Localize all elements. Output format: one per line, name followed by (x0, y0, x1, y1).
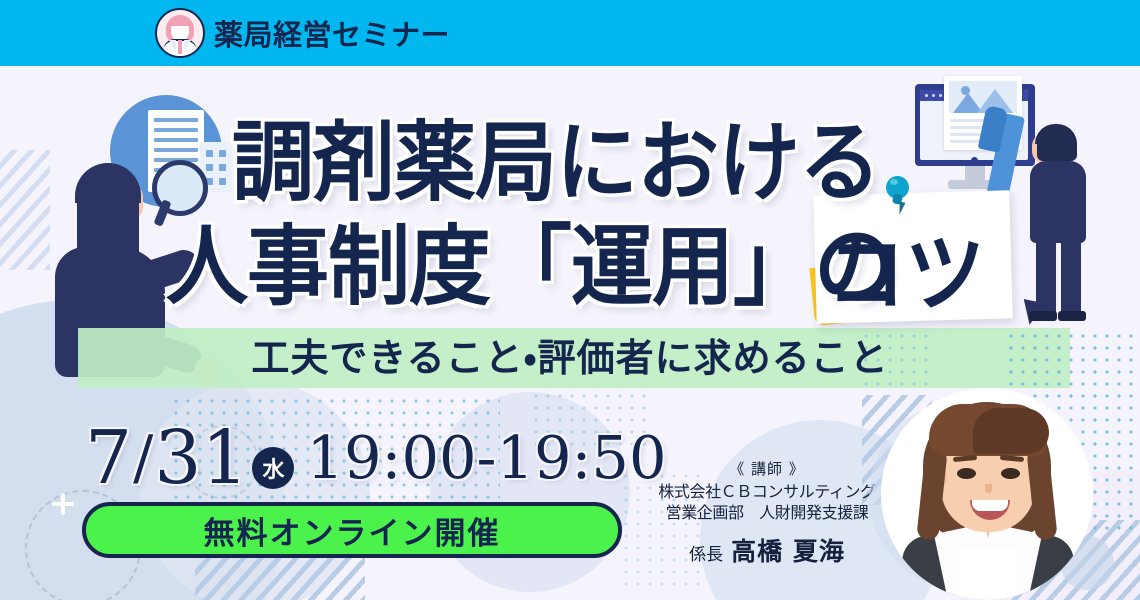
event-date-row: 7 / 31 水 19:00-19:50 (85, 422, 666, 494)
hero-title-line2: 人事制度「運用」の (166, 196, 895, 322)
brand-group: 薬局経営セミナー (155, 0, 450, 66)
speaker-info: 《 講師 》 株式会社ＣＢコンサルティング 営業企画部 人財開発支援課 係長高橋… (636, 458, 898, 568)
speaker-name-row: 係長高橋 夏海 (636, 532, 898, 568)
brand-title: 薬局経営セミナー (214, 12, 450, 54)
free-online-cta-button[interactable]: 無料オンライン開催 (82, 502, 622, 558)
event-time: 19:00-19:50 (306, 422, 666, 494)
cta-label: 無料オンライン開催 (204, 508, 501, 553)
hero-subtitle: 工夫できること・評価者に求めること (0, 330, 1140, 386)
portrait-circle (881, 388, 1093, 600)
event-weekday-badge: 水 (252, 447, 294, 489)
sparkle-plus-icon (52, 493, 74, 515)
speaker-label: 《 講師 》 (636, 458, 898, 479)
speaker-title: 係長 (689, 545, 723, 565)
speaker-department: 営業企画部 人財開発支援課 (636, 502, 898, 523)
speaker-portrait (881, 388, 1093, 600)
decorative-stripes-top-left (0, 150, 50, 270)
speaker-company: 株式会社ＣＢコンサルティング (636, 481, 898, 502)
event-month: 7 (85, 422, 132, 494)
hero-title-accent: コツ (826, 206, 984, 329)
header-bar: 薬局経営セミナー (0, 0, 1140, 66)
speaker-name: 高橋 夏海 (731, 537, 845, 566)
date-separator: / (132, 422, 154, 494)
seminar-banner: 調剤薬局における 人事制度「運用」の コツ 工夫できること・評価者に求めること … (0, 0, 1140, 600)
hero-title-line1: 調剤薬局における (232, 92, 880, 218)
event-day: 31 (154, 422, 248, 494)
pharmacist-avatar-icon (155, 8, 205, 58)
